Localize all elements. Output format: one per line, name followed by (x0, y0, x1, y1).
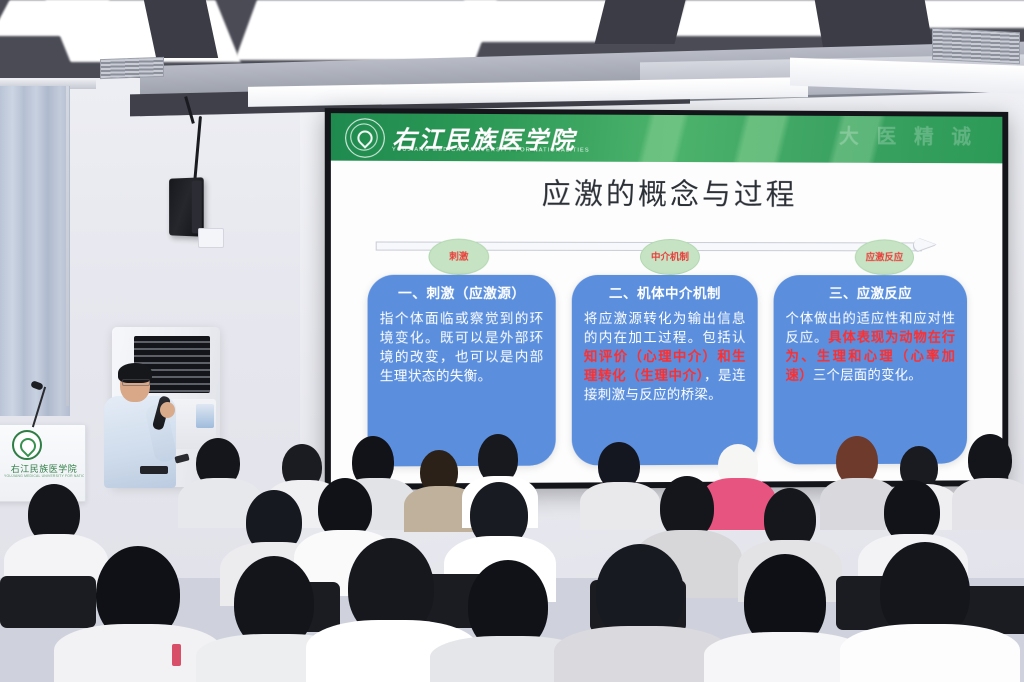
content-box-body: 将应激源转化为输出信息的内在加工过程。包括认知评价（心理中介）和生理转化（生理中… (584, 309, 746, 404)
speaker-grille (192, 180, 202, 233)
content-box-title: 一、刺激（应激源） (380, 285, 544, 303)
body-text-plain-2: 三个层面的变化。 (813, 367, 922, 382)
content-box-title: 二、机体中介机制 (584, 285, 746, 303)
wall-outlet (198, 228, 224, 248)
stage-pill-response: 应激反应 (855, 239, 914, 275)
ceiling-light-panel (235, 0, 497, 60)
lecture-hall-scene: 右江民族医学院 YOUJIANG MEDICAL UNIVERSITY FOR … (0, 0, 1024, 682)
ceiling-vent-icon (100, 57, 164, 79)
audience-body (952, 478, 1024, 530)
university-emblem-icon (345, 118, 385, 158)
ceiling-vent-icon (932, 28, 1020, 65)
university-name-en: YOUJIANG MEDICAL UNIVERSITY FOR NATIONAL… (392, 147, 590, 154)
body-text-plain: 指个体面临或察觉到的环境变化。既可以是外部环境的改变，也可以是内部生理状态的失衡… (380, 311, 544, 384)
stage-pill-mediation: 中介机制 (640, 239, 700, 275)
arrow-head (914, 236, 936, 252)
air-conditioner-energy-label (196, 404, 214, 428)
body-text-plain: 将应激源转化为输出信息的内在加工过程。包括认 (584, 311, 746, 345)
glasses-icon (122, 379, 150, 386)
wall-corner (66, 86, 69, 406)
window-curtain-icon (0, 86, 70, 416)
slide-title: 应激的概念与过程 (331, 170, 1002, 214)
chair-back (0, 576, 96, 628)
audience-body (580, 482, 660, 530)
lanyard-badge (172, 644, 181, 666)
ceiling-beam (595, 0, 686, 44)
content-box-body: 个体做出的适应性和应对性反应。具体表现为动物在行为、生理和心理（心率加速）三个层… (785, 309, 955, 385)
slide-header-band: 右江民族医学院 YOUJIANG MEDICAL UNIVERSITY FOR … (331, 113, 1002, 163)
presenter-hand (160, 402, 175, 418)
audience-body (840, 624, 1020, 682)
projected-slide: 右江民族医学院 YOUJIANG MEDICAL UNIVERSITY FOR … (331, 113, 1002, 484)
content-box-title: 三、应激反应 (785, 285, 955, 303)
stage-pill-stimulus: 刺激 (428, 239, 489, 275)
motto-watermark: 大医精诚 (839, 120, 989, 150)
ceiling-beam (144, 0, 218, 58)
audience (0, 430, 1024, 682)
content-box-body: 指个体面临或察觉到的环境变化。既可以是外部环境的改变，也可以是内部生理状态的失衡… (380, 309, 544, 386)
